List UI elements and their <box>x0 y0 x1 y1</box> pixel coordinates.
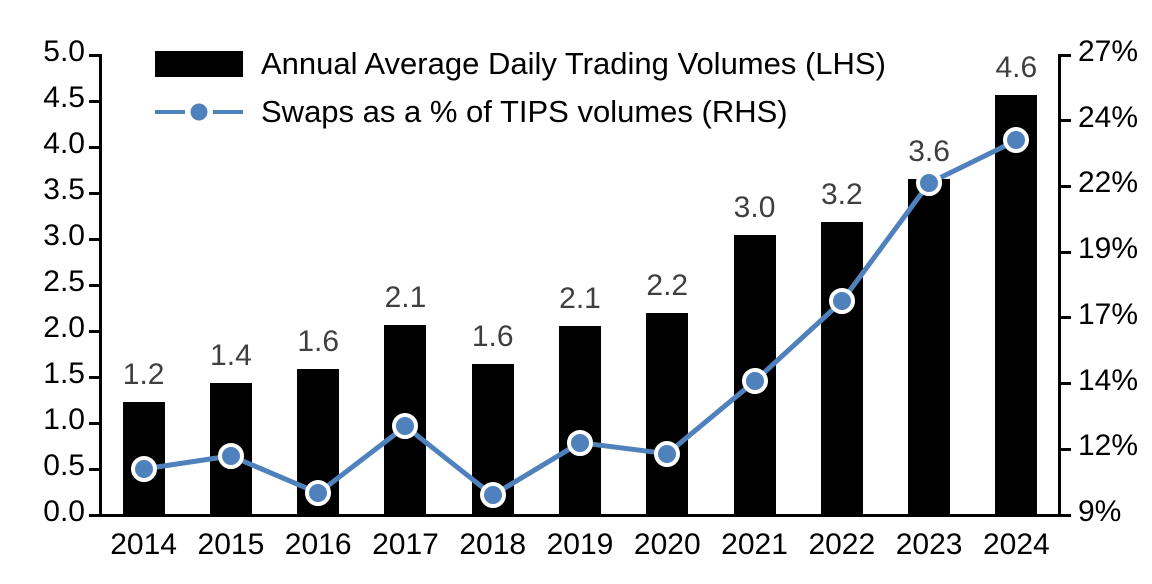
left-axis-tick-label: 1.5 <box>10 359 85 389</box>
right-axis-tick-label: 19% <box>1078 234 1138 264</box>
x-axis-label-2021: 2021 <box>721 528 788 562</box>
bar-2023[interactable] <box>908 179 950 515</box>
right-axis-tick <box>1061 54 1071 57</box>
right-axis-tick-label: 24% <box>1078 103 1138 133</box>
x-axis-label-2016: 2016 <box>285 528 352 562</box>
line-marker-2015[interactable] <box>218 443 244 469</box>
left-axis-tick <box>89 238 99 241</box>
left-axis-tick-label: 2.5 <box>10 267 85 297</box>
left-axis-tick <box>89 146 99 149</box>
line-marker-2016[interactable] <box>305 480 331 506</box>
left-axis-tick <box>89 192 99 195</box>
bar-value-label: 2.1 <box>559 282 601 316</box>
left-axis-tick <box>89 468 99 471</box>
legend-item-line[interactable]: Swaps as a % of TIPS volumes (RHS) <box>155 88 886 136</box>
right-axis-tick <box>1061 251 1071 254</box>
bar-value-label: 2.2 <box>646 269 688 303</box>
x-axis-label-2020: 2020 <box>634 528 701 562</box>
bar-value-label: 4.6 <box>996 51 1038 85</box>
right-axis-tick <box>1061 382 1071 385</box>
chart-container: 0.00.51.01.52.02.53.03.54.04.55.0 9%12%1… <box>0 0 1152 584</box>
bar-value-label: 2.1 <box>385 281 427 315</box>
left-axis-tick-label: 0.0 <box>10 497 85 527</box>
left-axis-tick-label: 3.5 <box>10 175 85 205</box>
bar-2020[interactable] <box>646 313 688 515</box>
left-axis-tick <box>89 514 99 517</box>
bar-2024[interactable] <box>995 95 1037 515</box>
line-marker-2019[interactable] <box>567 430 593 456</box>
bar-value-label: 1.4 <box>210 339 252 373</box>
left-axis-tick-label: 1.0 <box>10 405 85 435</box>
right-axis-tick <box>1061 448 1071 451</box>
chart-legend: Annual Average Daily Trading Volumes (LH… <box>155 40 886 136</box>
left-axis-tick-label: 2.0 <box>10 313 85 343</box>
left-axis-tick <box>89 422 99 425</box>
x-axis-label-2015: 2015 <box>198 528 265 562</box>
left-axis-tick-label: 0.5 <box>10 451 85 481</box>
right-axis-tick <box>1061 119 1071 122</box>
bar-value-label: 3.2 <box>821 178 863 212</box>
legend-item-bars[interactable]: Annual Average Daily Trading Volumes (LH… <box>155 40 886 88</box>
bar-value-label: 1.6 <box>297 325 339 359</box>
bar-value-label: 1.2 <box>123 358 165 392</box>
x-axis-label-2018: 2018 <box>459 528 526 562</box>
left-axis-tick <box>89 54 99 57</box>
bar-value-label: 1.6 <box>472 320 514 354</box>
right-axis-tick-label: 27% <box>1078 37 1138 67</box>
right-axis-tick-label: 17% <box>1078 300 1138 330</box>
legend-item-label: Swaps as a % of TIPS volumes (RHS) <box>261 94 788 130</box>
bar-2022[interactable] <box>821 222 863 515</box>
x-axis-label-2022: 2022 <box>808 528 875 562</box>
right-axis-tick-label: 12% <box>1078 431 1138 461</box>
right-axis-tick <box>1061 316 1071 319</box>
left-axis-line <box>99 54 102 517</box>
right-axis-tick-label: 14% <box>1078 366 1138 396</box>
line-marker-2014[interactable] <box>131 456 157 482</box>
line-marker-2018[interactable] <box>480 482 506 508</box>
x-axis-label-2019: 2019 <box>547 528 614 562</box>
x-axis-label-2017: 2017 <box>372 528 439 562</box>
right-axis-tick-label: 9% <box>1078 497 1121 527</box>
left-axis-tick <box>89 100 99 103</box>
left-axis-tick <box>89 284 99 287</box>
legend-item-label: Annual Average Daily Trading Volumes (LH… <box>261 46 886 82</box>
x-axis-label-2024: 2024 <box>983 528 1050 562</box>
left-axis-tick <box>89 330 99 333</box>
line-dot-swatch-icon <box>155 99 243 125</box>
line-marker-2022[interactable] <box>829 288 855 314</box>
left-axis-tick-label: 3.0 <box>10 221 85 251</box>
x-axis-label-2023: 2023 <box>896 528 963 562</box>
left-axis-tick <box>89 376 99 379</box>
left-axis-tick-label: 5.0 <box>10 37 85 67</box>
line-marker-2020[interactable] <box>654 441 680 467</box>
right-axis-tick-label: 22% <box>1078 168 1138 198</box>
bar-value-label: 3.0 <box>734 191 776 225</box>
left-axis-tick-label: 4.5 <box>10 83 85 113</box>
bar-2019[interactable] <box>559 326 601 515</box>
right-axis-tick <box>1061 514 1071 517</box>
line-marker-2021[interactable] <box>742 368 768 394</box>
x-axis-label-2014: 2014 <box>110 528 177 562</box>
right-axis-tick <box>1061 185 1071 188</box>
line-marker-2017[interactable] <box>392 413 418 439</box>
line-marker-2023[interactable] <box>916 170 942 196</box>
line-marker-2024[interactable] <box>1003 127 1029 153</box>
bar-swatch-icon <box>155 51 243 77</box>
left-axis-tick-label: 4.0 <box>10 129 85 159</box>
bar-value-label: 3.6 <box>908 135 950 169</box>
